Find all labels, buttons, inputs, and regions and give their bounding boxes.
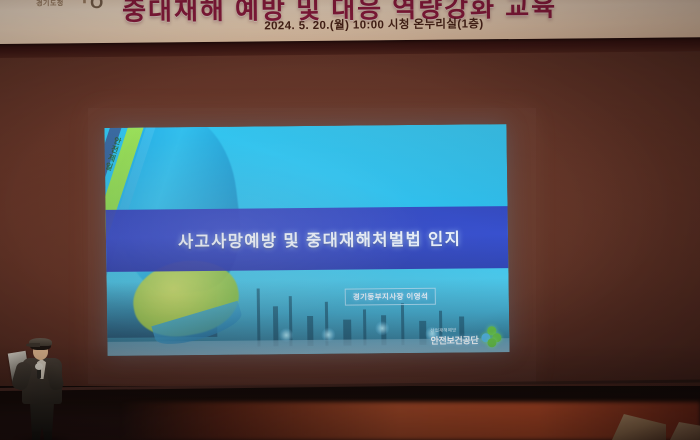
kosha-logo: 산업재해예방 안전보건공단 [430,326,501,347]
speaker-person [8,336,82,440]
slide-title: 사고사망예방 및 중대재해처벌법 인지 [106,206,509,272]
city-logo-text: 경기도청 [36,0,64,9]
kosha-name: 안전보건공단 [430,333,478,346]
stage-accent-light [120,402,700,440]
city-logo: 시 경기도청 O [30,0,122,20]
city-logo-letter: O [90,0,103,13]
projected-slide: 안전제일 사고사망예방 및 중대재해처벌법 인지 경기동부지사장 이영석 산업재… [104,124,509,356]
presenter-name-chip: 경기동부지사장 이영석 [345,288,437,306]
kosha-superscript: 산업재해예방 [430,328,456,334]
clover-icon [481,326,501,346]
banner-subtitle: 2024. 5. 20.(월) 10:00 시청 온누리실(1층) [264,15,483,33]
conference-hall-photo: 안전제일 사고사망예방 및 중대재해처벌법 인지 경기동부지사장 이영석 산업재… [0,0,700,440]
event-banner: 시 경기도청 O 중대재해 예방 및 대응 역량강화 교육 2024. 5. 2… [0,0,700,44]
city-logo-mark: 시 [68,0,88,8]
